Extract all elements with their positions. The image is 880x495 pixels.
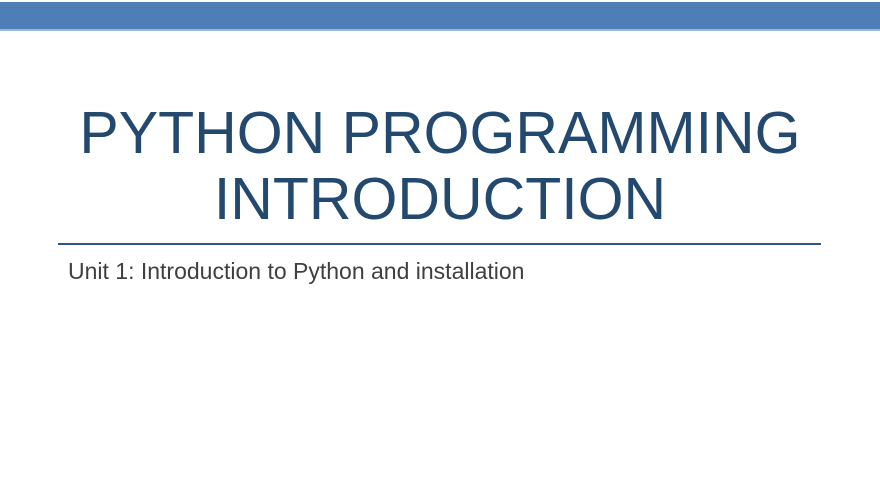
- page-title: PYTHON PROGRAMMING INTRODUCTION: [58, 100, 822, 232]
- title-divider-rule: [58, 243, 821, 245]
- subtitle-block: Unit 1: Introduction to Python and insta…: [68, 257, 822, 286]
- title-block: PYTHON PROGRAMMING INTRODUCTION: [58, 100, 822, 232]
- top-accent-banner: [0, 2, 880, 31]
- title-slide: PYTHON PROGRAMMING INTRODUCTION Unit 1: …: [0, 0, 880, 495]
- slide-subtitle: Unit 1: Introduction to Python and insta…: [68, 257, 822, 286]
- slide-content-area: [58, 300, 822, 480]
